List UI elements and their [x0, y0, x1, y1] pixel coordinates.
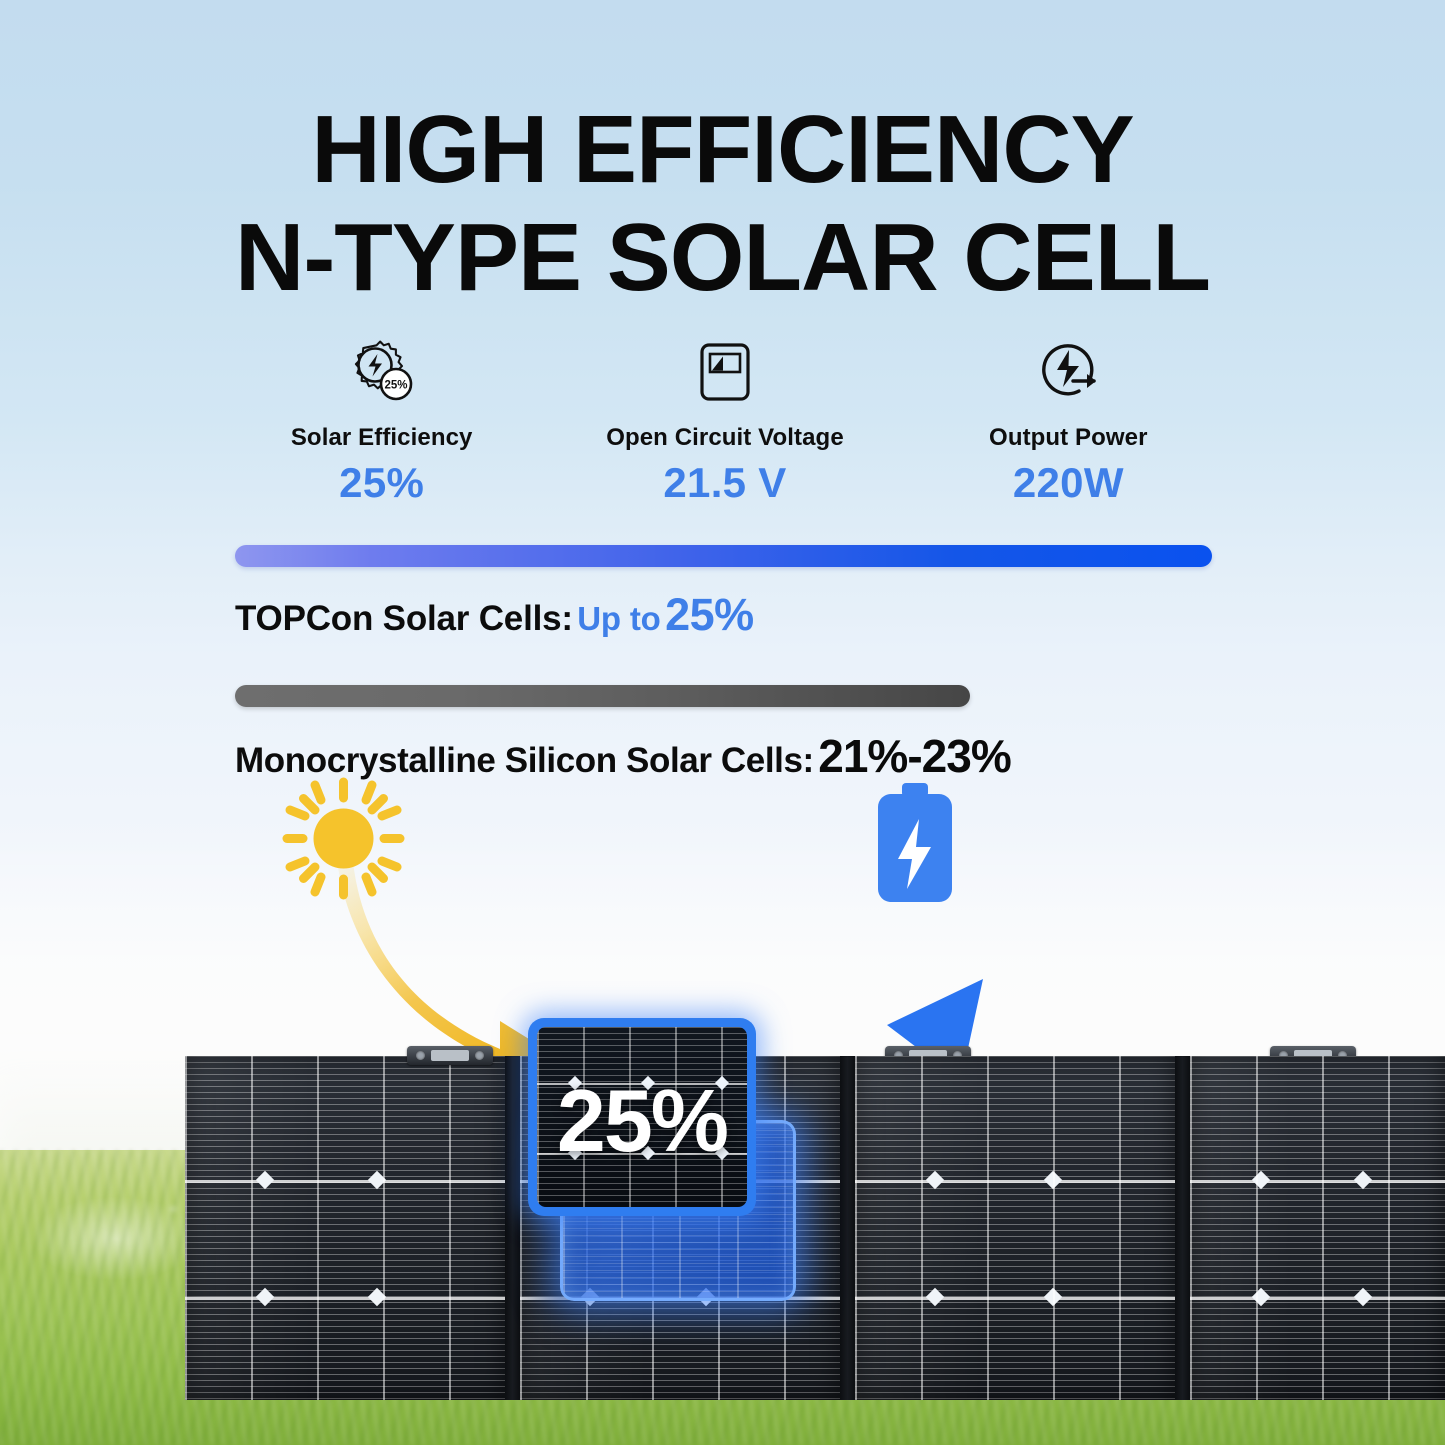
efficiency-comparison-chart: TOPCon Solar Cells: Up to 25% Monocrysta… — [235, 545, 1235, 783]
topcon-label: TOPCon Solar Cells: — [235, 599, 573, 638]
page-title: HIGH EFFICIENCY N-TYPE SOLAR CELL — [0, 96, 1445, 311]
power-cycle-icon — [897, 336, 1240, 408]
efficiency-badge-icon: 25% — [210, 336, 553, 408]
mono-efficiency-bar — [235, 685, 970, 707]
svg-text:25%: 25% — [384, 380, 407, 392]
metric-output-power: Output Power 220W — [897, 336, 1240, 507]
topcon-value: 25% — [665, 589, 754, 640]
solar-panel-array — [185, 1056, 1445, 1400]
metric-open-circuit-voltage: Open Circuit Voltage 21.5 V — [553, 336, 896, 507]
bar-spacer — [235, 641, 1235, 685]
metric-label: Solar Efficiency — [210, 424, 553, 452]
topcon-qualifier: Up to — [577, 600, 660, 637]
metric-value: 220W — [897, 459, 1240, 507]
mono-label: Monocrystalline Silicon Solar Cells: — [235, 741, 814, 780]
panel-segment — [855, 1056, 1175, 1400]
metric-solar-efficiency: 25% Solar Efficiency 25% — [210, 336, 553, 507]
highlight-cell: 25% — [528, 1018, 756, 1216]
spec-metrics-row: 25% Solar Efficiency 25% Open Circuit Vo… — [210, 336, 1240, 507]
product-infographic: HIGH EFFICIENCY N-TYPE SOLAR CELL 25% So… — [0, 0, 1445, 1445]
topcon-efficiency-bar — [235, 545, 1212, 567]
panel-segment — [1190, 1056, 1445, 1400]
headline-line-2: N-TYPE SOLAR CELL — [0, 204, 1445, 312]
highlight-cell-value: 25% — [528, 1070, 756, 1172]
headline-line-1: HIGH EFFICIENCY — [311, 96, 1133, 203]
panel-seam — [1175, 1056, 1190, 1400]
metric-label: Output Power — [897, 424, 1240, 452]
battery-charging-icon — [869, 781, 961, 906]
voltmeter-icon — [553, 336, 896, 408]
mono-caption: Monocrystalline Silicon Solar Cells: 21%… — [235, 729, 1235, 783]
metric-label: Open Circuit Voltage — [553, 424, 896, 452]
metric-value: 21.5 V — [553, 459, 896, 507]
panel-seam — [840, 1056, 855, 1400]
metric-value: 25% — [210, 459, 553, 507]
panel-segment — [185, 1056, 505, 1400]
topcon-caption: TOPCon Solar Cells: Up to 25% — [235, 589, 1235, 641]
mono-value: 21%-23% — [818, 730, 1010, 782]
panel-latch — [407, 1046, 493, 1065]
